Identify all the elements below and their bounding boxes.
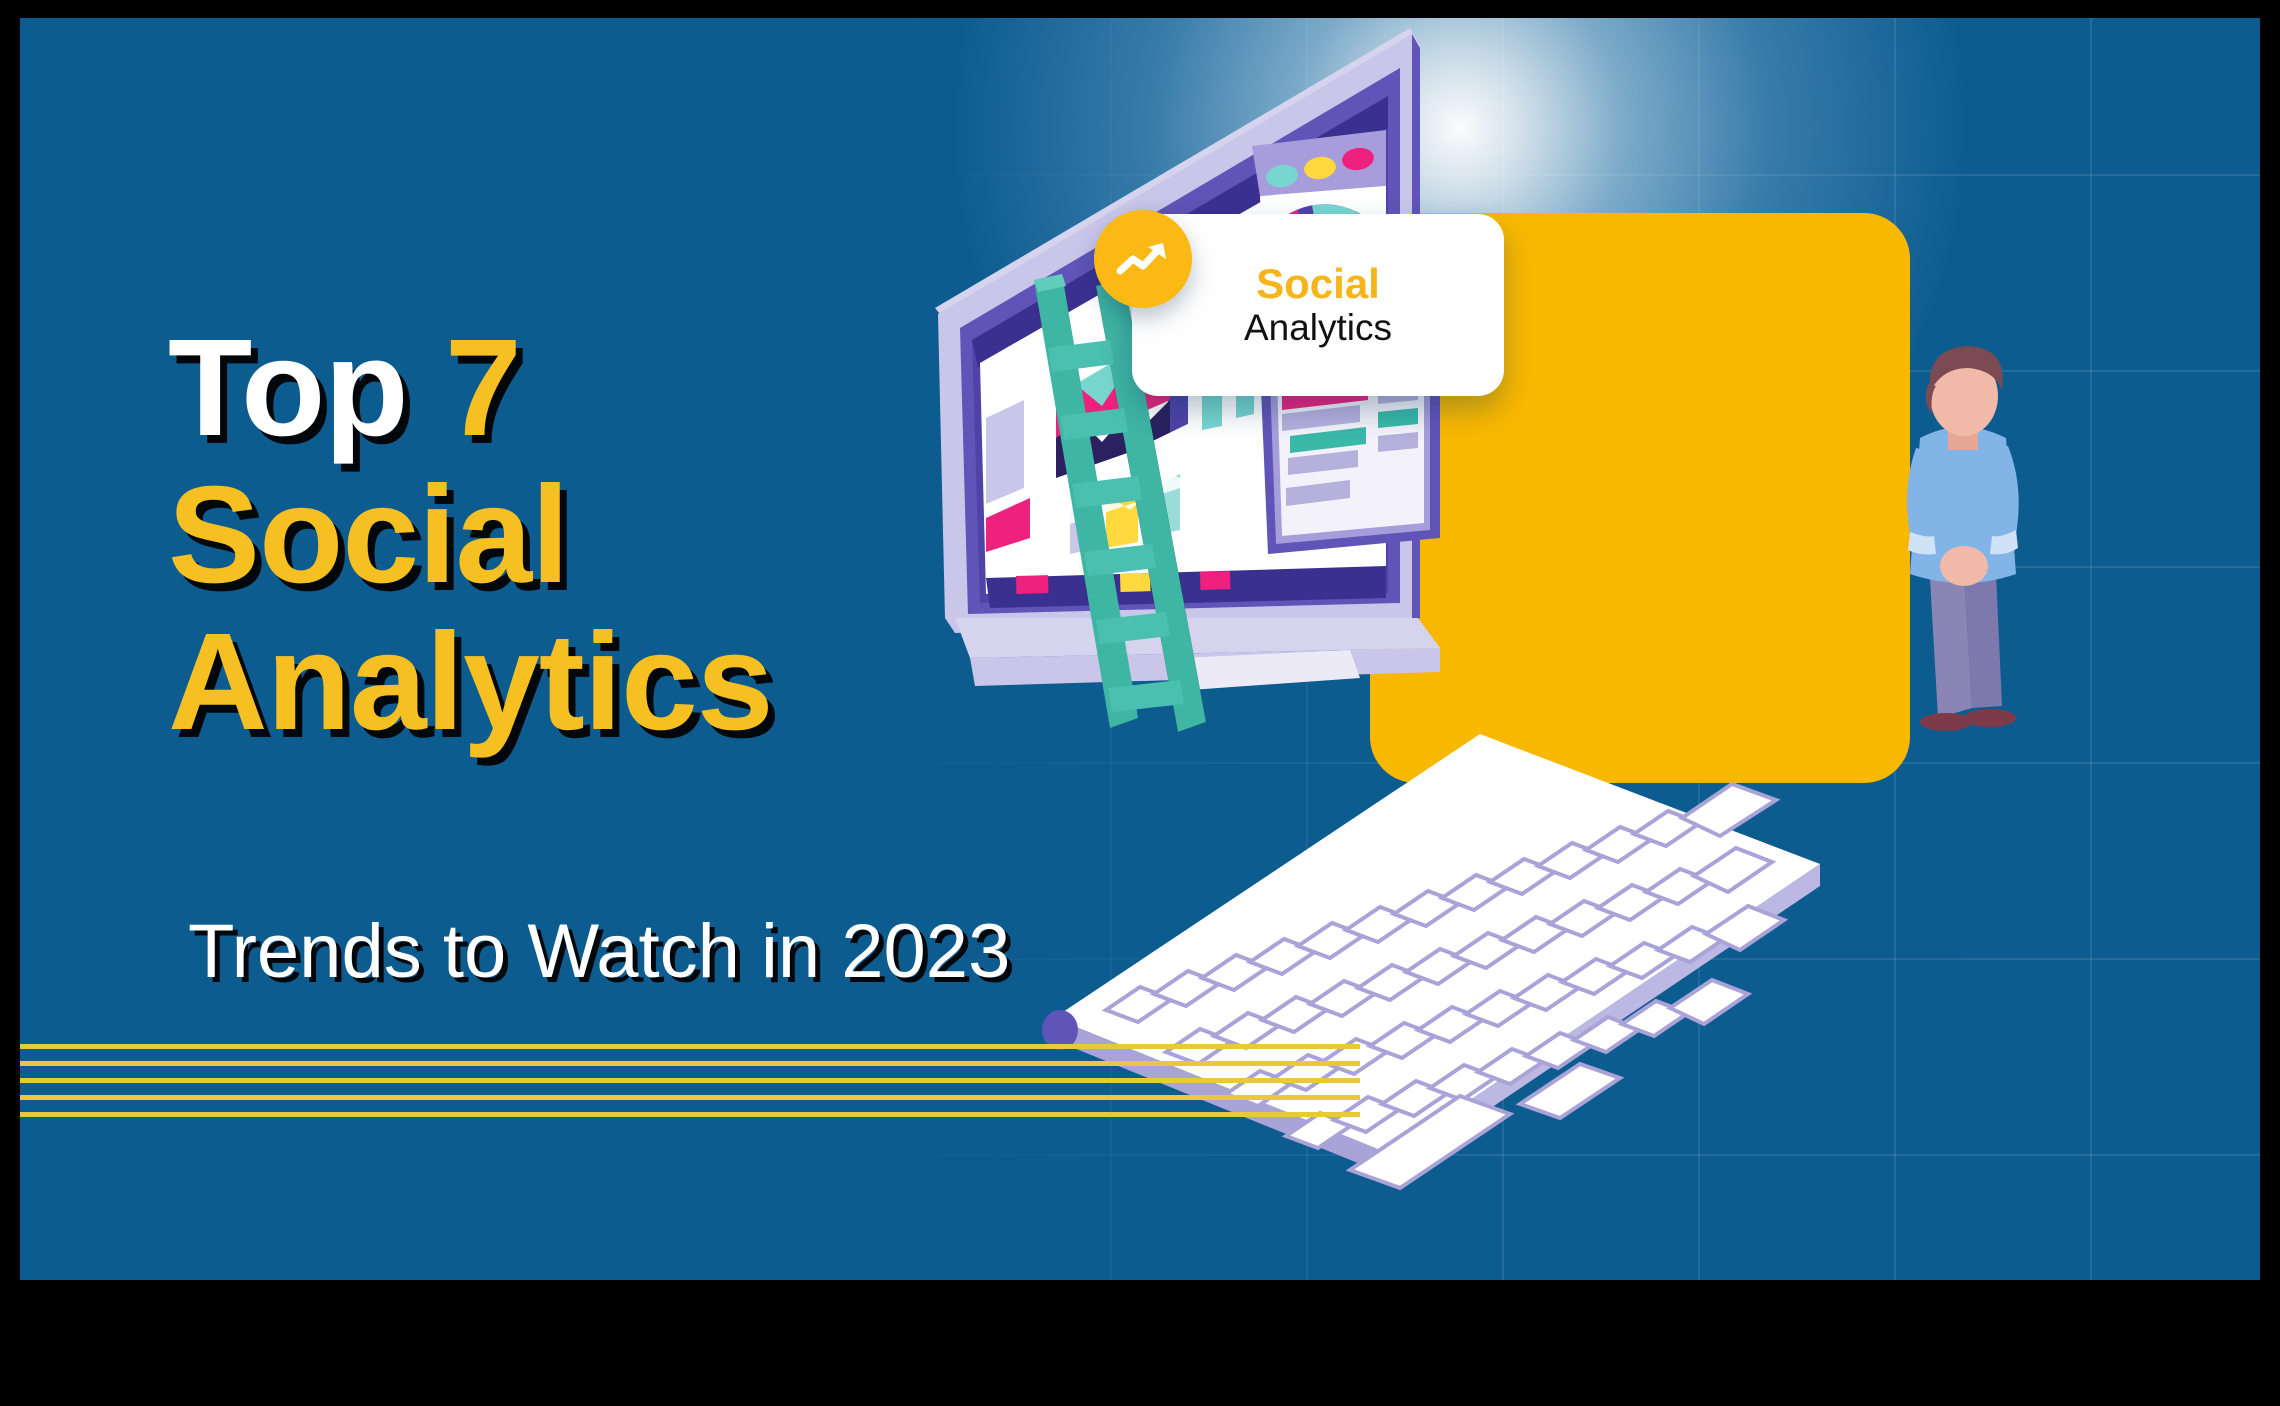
headline-number: 7 [445,311,521,465]
subtitle: Trends to Watch in 2023 [188,908,1010,995]
headline-line-2: Social [168,465,1168,606]
screenshot-root: Top 7 Social Analytics Trends to Watch i… [0,0,2280,1406]
card-subtitle: Analytics [1244,308,1392,349]
headline-block: Top 7 Social Analytics [168,318,1168,752]
headline-line-1: Top 7 [168,318,1168,459]
card-title: Social [1256,262,1380,306]
stripe-line-1 [20,1044,1360,1049]
promo-banner: Top 7 Social Analytics Trends to Watch i… [20,18,2260,1280]
stripe-line-5 [20,1112,1360,1117]
stripe-line-2 [20,1061,1360,1066]
stripe-line-4 [20,1095,1360,1100]
trending-up-arrow-icon [1094,210,1192,308]
headline-top: Top [168,311,408,465]
stripe-line-3 [20,1078,1360,1083]
headline-line-3: Analytics [168,612,1168,753]
decorative-stripes [20,1030,1360,1116]
